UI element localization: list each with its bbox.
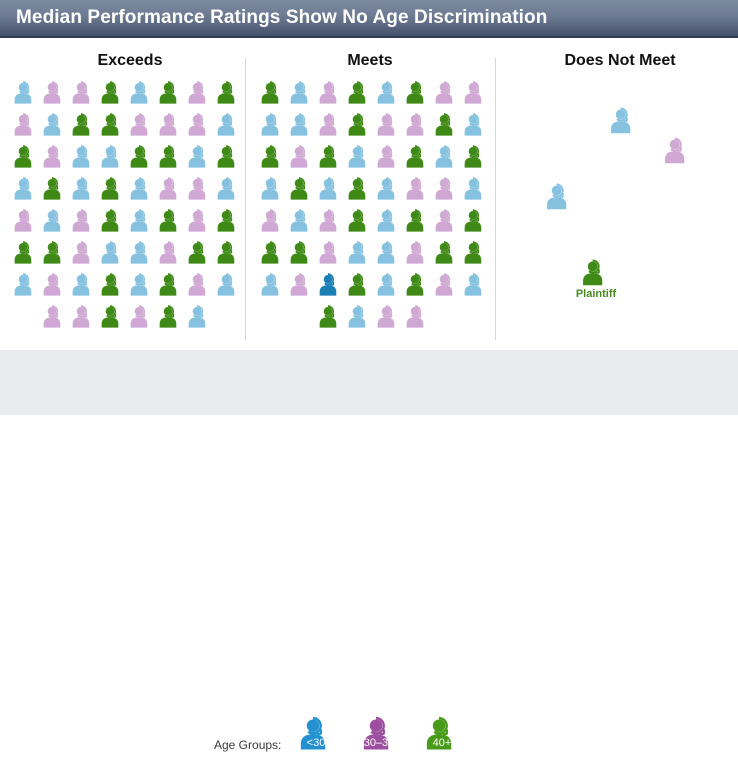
column-divider-left	[245, 58, 246, 340]
pictogram-cell	[259, 304, 288, 336]
pictogram-cell	[215, 240, 244, 272]
person-with-headset-icon	[346, 176, 372, 202]
pictogram-cell	[433, 208, 462, 240]
person-with-headset-icon	[462, 272, 488, 298]
pictogram-person	[662, 136, 692, 166]
person-with-headset-icon	[346, 240, 372, 266]
pictogram-cell	[186, 112, 215, 144]
person-with-headset-icon	[70, 176, 96, 202]
pictogram-cell	[157, 80, 186, 112]
pictogram-cell	[70, 176, 99, 208]
pictogram-cell	[346, 176, 375, 208]
person-with-headset-icon	[433, 240, 459, 266]
person-with-headset-icon	[346, 304, 372, 330]
pictogram-cell	[186, 80, 215, 112]
pictogram-cell	[433, 272, 462, 304]
pictogram-cell	[346, 80, 375, 112]
person-with-headset-icon	[215, 176, 241, 202]
pictogram-row	[12, 112, 244, 144]
pictogram-cell	[433, 80, 462, 112]
pictogram-cell	[12, 240, 41, 272]
pictogram-cell	[404, 240, 433, 272]
person-with-headset-icon	[99, 112, 125, 138]
legend-item-label: 40+	[411, 737, 473, 749]
pictogram-cell	[317, 272, 346, 304]
person-with-headset-icon	[317, 112, 343, 138]
pictogram-cell	[12, 80, 41, 112]
person-with-headset-icon	[404, 176, 430, 202]
person-with-headset-icon	[128, 144, 154, 170]
person-with-headset-icon	[157, 240, 183, 266]
pictogram-cell	[259, 272, 288, 304]
person-with-headset-icon	[346, 112, 372, 138]
person-with-headset-icon	[128, 80, 154, 106]
person-with-headset-icon	[462, 112, 488, 138]
person-with-headset-icon	[186, 112, 212, 138]
person-with-headset-icon	[317, 208, 343, 234]
pictogram-cell	[157, 144, 186, 176]
legend-item-label: <30	[285, 737, 347, 749]
pictogram-cell	[12, 176, 41, 208]
person-with-headset-icon	[462, 176, 488, 202]
title-bar: Median Performance Ratings Show No Age D…	[0, 0, 738, 38]
pictogram-cell	[128, 272, 157, 304]
pictogram-cell	[12, 208, 41, 240]
pictogram-cell	[128, 240, 157, 272]
pictogram-cell	[12, 144, 41, 176]
person-with-headset-icon	[99, 240, 125, 266]
pictogram-cell	[215, 272, 244, 304]
pictogram-row	[12, 80, 244, 112]
person-with-headset-icon	[70, 112, 96, 138]
pictogram-cell	[157, 240, 186, 272]
page-title: Median Performance Ratings Show No Age D…	[16, 7, 547, 29]
person-with-headset-icon	[128, 112, 154, 138]
pictogram-cell	[259, 80, 288, 112]
person-with-headset-icon	[12, 240, 38, 266]
person-with-headset-icon	[99, 272, 125, 298]
person-with-headset-icon	[99, 144, 125, 170]
pictogram-cell	[375, 240, 404, 272]
pictogram-cell	[404, 304, 433, 336]
person-with-headset-icon	[404, 208, 430, 234]
person-with-headset-icon	[70, 304, 96, 330]
pictogram-group-does-not-meet: Plaintiff	[496, 58, 738, 340]
person-with-headset-icon	[157, 112, 183, 138]
pictogram-cell	[186, 240, 215, 272]
pictogram-cell	[41, 304, 70, 336]
pictogram-cell	[317, 304, 346, 336]
pictogram-grid-meets	[259, 80, 491, 336]
pictogram-cell	[259, 208, 288, 240]
person-with-headset-icon	[608, 106, 638, 136]
person-with-headset-icon	[404, 144, 430, 170]
person-with-headset-icon	[317, 240, 343, 266]
pictogram-cell	[41, 272, 70, 304]
legend-item-40-plus[interactable]: 40+	[411, 714, 473, 760]
person-with-headset-icon	[433, 208, 459, 234]
pictogram-cell	[375, 272, 404, 304]
pictogram-cell	[128, 80, 157, 112]
pictogram-cell	[375, 112, 404, 144]
person-with-headset-icon	[544, 182, 574, 212]
person-with-headset-icon	[41, 304, 67, 330]
pictogram-cell	[99, 272, 128, 304]
legend-item-under-30[interactable]: <30	[285, 714, 347, 760]
pictogram-cell	[288, 144, 317, 176]
pictogram-cell	[215, 176, 244, 208]
pictogram-row	[12, 208, 244, 240]
person-with-headset-icon	[433, 144, 459, 170]
person-with-headset-icon	[128, 240, 154, 266]
person-with-headset-icon	[157, 144, 183, 170]
person-with-headset-icon	[41, 80, 67, 106]
pictogram-person	[544, 182, 574, 212]
person-with-headset-icon	[186, 144, 212, 170]
pictogram-cell	[404, 176, 433, 208]
person-with-headset-icon	[404, 304, 430, 330]
person-with-headset-icon	[375, 304, 401, 330]
pictogram-cell	[186, 304, 215, 336]
pictogram-cell	[41, 144, 70, 176]
person-with-headset-icon	[259, 112, 285, 138]
pictogram-cell	[404, 112, 433, 144]
pictogram-cell	[433, 304, 462, 336]
person-with-headset-icon	[215, 112, 241, 138]
pictogram-cell	[346, 304, 375, 336]
person-with-headset-icon	[317, 80, 343, 106]
pictogram-cell	[99, 208, 128, 240]
person-with-headset-icon	[186, 272, 212, 298]
pictogram-cell	[157, 208, 186, 240]
pictogram-cell	[41, 208, 70, 240]
pictogram-cell	[317, 208, 346, 240]
pictogram-cell	[157, 112, 186, 144]
person-with-headset-icon	[99, 208, 125, 234]
person-with-headset-icon	[288, 208, 314, 234]
person-with-headset-icon	[70, 240, 96, 266]
person-with-headset-icon	[186, 176, 212, 202]
pictogram-cell	[99, 112, 128, 144]
person-with-headset-icon	[375, 176, 401, 202]
person-with-headset-icon	[128, 176, 154, 202]
pictogram-cell	[462, 304, 491, 336]
person-with-headset-icon	[186, 208, 212, 234]
person-with-headset-icon	[346, 208, 372, 234]
person-with-headset-icon	[288, 80, 314, 106]
pictogram-cell	[99, 80, 128, 112]
person-with-headset-icon	[70, 272, 96, 298]
pictogram-cell	[462, 272, 491, 304]
pictogram-cell	[70, 240, 99, 272]
person-with-headset-icon	[12, 176, 38, 202]
person-with-headset-icon	[462, 240, 488, 266]
pictogram-cell	[288, 112, 317, 144]
person-with-headset-icon	[462, 208, 488, 234]
person-with-headset-icon	[375, 112, 401, 138]
person-with-headset-icon	[433, 272, 459, 298]
pictogram-cell	[404, 80, 433, 112]
person-with-headset-icon	[288, 240, 314, 266]
pictogram-cell	[157, 176, 186, 208]
pictogram-cell	[375, 144, 404, 176]
person-with-headset-icon	[346, 144, 372, 170]
pictogram-row	[259, 304, 491, 336]
pictogram-cell	[215, 80, 244, 112]
person-with-headset-icon	[215, 80, 241, 106]
pictogram-cell	[186, 176, 215, 208]
pictogram-cell	[186, 208, 215, 240]
person-with-headset-icon	[259, 144, 285, 170]
person-with-headset-icon	[215, 144, 241, 170]
person-with-headset-icon	[157, 272, 183, 298]
pictogram-cell	[70, 208, 99, 240]
person-with-headset-icon	[70, 208, 96, 234]
pictogram-cell	[462, 208, 491, 240]
pictogram-cell	[462, 176, 491, 208]
person-with-headset-icon	[12, 112, 38, 138]
person-with-headset-icon	[317, 304, 343, 330]
pictogram-cell	[462, 240, 491, 272]
pictogram-cell	[288, 240, 317, 272]
person-with-headset-icon	[157, 304, 183, 330]
person-with-headset-icon	[259, 176, 285, 202]
person-with-headset-icon	[128, 208, 154, 234]
pictogram-cell	[462, 144, 491, 176]
person-with-headset-icon	[186, 304, 212, 330]
person-with-headset-icon	[346, 272, 372, 298]
pictogram-cell	[317, 80, 346, 112]
pictogram-cell	[433, 176, 462, 208]
pictogram-cell	[157, 272, 186, 304]
person-with-headset-icon	[12, 80, 38, 106]
pictogram-cell	[404, 272, 433, 304]
person-with-headset-icon	[317, 272, 343, 298]
pictogram-cell	[433, 144, 462, 176]
person-with-headset-icon	[157, 208, 183, 234]
pictogram-row	[259, 208, 491, 240]
person-with-headset-icon	[259, 80, 285, 106]
person-with-headset-icon	[186, 240, 212, 266]
pictogram-cell	[128, 208, 157, 240]
person-with-headset-icon	[259, 208, 285, 234]
pictogram-cell	[12, 272, 41, 304]
pictogram-cell	[41, 240, 70, 272]
person-with-headset-icon	[128, 272, 154, 298]
pictogram-cell	[70, 304, 99, 336]
person-with-headset-icon	[41, 112, 67, 138]
person-with-headset-icon	[404, 80, 430, 106]
pictogram-cell	[12, 304, 41, 336]
person-with-headset-icon	[12, 144, 38, 170]
person-with-headset-icon	[375, 144, 401, 170]
pictogram-cell	[346, 144, 375, 176]
person-with-headset-icon	[317, 176, 343, 202]
pictogram-cell	[70, 272, 99, 304]
pictogram-grid-exceeds	[12, 80, 244, 336]
pictogram-cell	[375, 80, 404, 112]
pictogram-row	[259, 176, 491, 208]
person-with-headset-icon	[462, 144, 488, 170]
column-header-exceeds: Exceeds	[30, 52, 230, 70]
pictogram-cell	[99, 304, 128, 336]
person-with-headset-icon	[462, 80, 488, 106]
pictogram-cell	[215, 112, 244, 144]
pictogram-cell	[215, 208, 244, 240]
pictogram-row	[12, 272, 244, 304]
pictogram-row	[12, 240, 244, 272]
pictogram-cell	[317, 240, 346, 272]
pictogram-cell	[346, 240, 375, 272]
pictogram-row	[259, 144, 491, 176]
legend-item-label: 30–39	[348, 737, 410, 749]
pictogram-cell	[317, 112, 346, 144]
person-with-headset-icon	[41, 208, 67, 234]
person-with-headset-icon	[215, 208, 241, 234]
pictogram-cell	[215, 144, 244, 176]
pictogram-cell	[375, 208, 404, 240]
pictogram-cell	[215, 304, 244, 336]
plaintiff-label: Plaintiff	[568, 288, 624, 300]
pictogram-cell	[128, 304, 157, 336]
pictogram-row	[259, 272, 491, 304]
person-with-headset-icon	[12, 272, 38, 298]
person-with-headset-icon	[288, 144, 314, 170]
pictogram-cell	[346, 272, 375, 304]
person-with-headset-icon	[186, 80, 212, 106]
pictogram-cell	[346, 208, 375, 240]
pictogram-cell	[128, 112, 157, 144]
pictogram-cell	[99, 176, 128, 208]
person-with-headset-icon	[99, 304, 125, 330]
person-with-headset-icon	[433, 176, 459, 202]
pictogram-cell	[259, 144, 288, 176]
pictogram-cell	[433, 240, 462, 272]
pictogram-cell	[288, 272, 317, 304]
person-with-headset-icon	[41, 176, 67, 202]
person-with-headset-icon	[288, 272, 314, 298]
pictogram-cell	[41, 176, 70, 208]
person-with-headset-icon	[157, 176, 183, 202]
pictogram-cell	[288, 176, 317, 208]
legend-title: Age Groups:	[214, 738, 281, 752]
person-with-headset-icon	[288, 176, 314, 202]
person-with-headset-icon	[99, 80, 125, 106]
pictogram-cell	[41, 112, 70, 144]
pictogram-cell	[433, 112, 462, 144]
pictogram-cell	[375, 304, 404, 336]
person-with-headset-icon	[375, 240, 401, 266]
person-with-headset-icon	[41, 240, 67, 266]
person-with-headset-icon	[404, 112, 430, 138]
person-with-headset-icon	[99, 176, 125, 202]
person-with-headset-icon	[41, 272, 67, 298]
person-with-headset-icon	[433, 112, 459, 138]
pictogram-cell	[157, 304, 186, 336]
person-with-headset-icon	[259, 240, 285, 266]
pictogram-cell	[404, 208, 433, 240]
pictogram-cell	[128, 144, 157, 176]
pictogram-cell	[186, 272, 215, 304]
pictogram-cell	[70, 112, 99, 144]
pictogram-cell	[12, 112, 41, 144]
person-with-headset-icon	[12, 208, 38, 234]
person-with-headset-icon	[404, 240, 430, 266]
pictogram-cell	[317, 144, 346, 176]
person-with-headset-icon	[580, 258, 610, 288]
person-with-headset-icon	[215, 240, 241, 266]
person-with-headset-icon	[346, 80, 372, 106]
pictogram-cell	[288, 80, 317, 112]
pictogram-cell	[70, 80, 99, 112]
person-with-headset-icon	[375, 272, 401, 298]
pictogram-cell	[404, 144, 433, 176]
person-with-headset-icon	[662, 136, 692, 166]
person-with-headset-icon	[433, 80, 459, 106]
pictogram-cell	[375, 176, 404, 208]
person-with-headset-icon	[157, 80, 183, 106]
person-with-headset-icon	[404, 272, 430, 298]
person-with-headset-icon	[259, 272, 285, 298]
pictogram-cell	[259, 240, 288, 272]
pictogram-person	[608, 106, 638, 136]
pictogram-cell	[462, 80, 491, 112]
person-with-headset-icon	[41, 144, 67, 170]
pictogram-cell	[346, 112, 375, 144]
pictogram-row	[259, 240, 491, 272]
person-with-headset-icon	[375, 80, 401, 106]
legend-item-30-39[interactable]: 30–39	[348, 714, 410, 760]
person-with-headset-icon	[70, 144, 96, 170]
pictogram-cell	[41, 80, 70, 112]
pictogram-cell	[462, 112, 491, 144]
pictogram-row	[259, 112, 491, 144]
person-with-headset-icon	[288, 112, 314, 138]
pictogram-cell	[128, 176, 157, 208]
pictogram-row	[12, 304, 244, 336]
pictogram-cell	[186, 144, 215, 176]
pictogram-cell	[70, 144, 99, 176]
pictogram-cell	[99, 144, 128, 176]
pictogram-row	[12, 144, 244, 176]
person-with-headset-icon	[215, 272, 241, 298]
person-with-headset-icon	[128, 304, 154, 330]
person-with-headset-icon	[317, 144, 343, 170]
pictogram-plaintiff: Plaintiff	[580, 258, 610, 288]
pictogram-cell	[259, 112, 288, 144]
pictogram-cell	[259, 176, 288, 208]
pictogram-cell	[99, 240, 128, 272]
pictogram-cell	[288, 304, 317, 336]
pictogram-cell	[317, 176, 346, 208]
slide-canvas: Median Performance Ratings Show No Age D…	[0, 0, 738, 415]
pictogram-row	[12, 176, 244, 208]
pictogram-cell	[288, 208, 317, 240]
column-header-meets: Meets	[270, 52, 470, 70]
person-with-headset-icon	[70, 80, 96, 106]
pictogram-row	[259, 80, 491, 112]
legend-bar: Age Groups: <30 30–39 40+	[0, 350, 738, 415]
person-with-headset-icon	[375, 208, 401, 234]
